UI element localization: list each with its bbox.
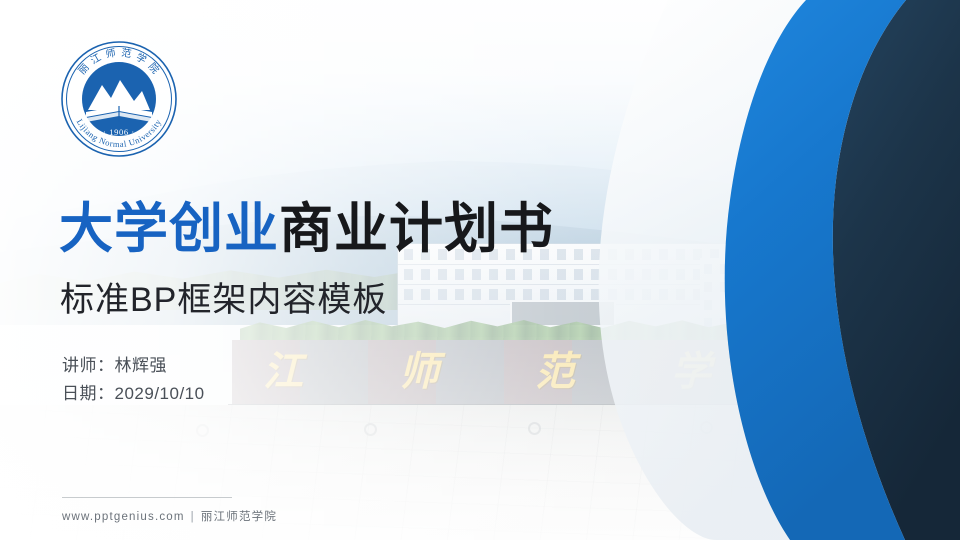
date-label: 日期：	[62, 384, 115, 403]
university-logo: · 1906 · 丽 江 师 范 学 院 Lijiang Normal Univ…	[58, 38, 180, 160]
date-value: 2029/10/10	[115, 384, 205, 403]
presenter-label: 讲师：	[62, 356, 115, 375]
date-row: 日期：2029/10/10	[62, 380, 205, 408]
title-highlight: 大学创业	[59, 199, 279, 259]
presenter-row: 讲师：林辉强	[62, 352, 205, 380]
footer-separator: |	[191, 511, 195, 523]
title-rest: 商业计划书	[279, 199, 554, 259]
slide-meta: 讲师：林辉强 日期：2029/10/10	[62, 352, 205, 408]
slide-subtitle: 标准BP框架内容模板	[60, 278, 387, 322]
footer-institution: 丽江师范学院	[201, 511, 277, 523]
slide-footer: www.pptgenius.com|丽江师范学院	[62, 508, 277, 526]
presenter-value: 林辉强	[115, 356, 168, 375]
logo-year: · 1906 ·	[103, 127, 135, 137]
footer-divider	[62, 497, 232, 498]
presentation-slide: 江 师 范 学 院	[0, 0, 960, 540]
footer-site[interactable]: www.pptgenius.com	[62, 511, 185, 523]
slide-title: 大学创业商业计划书	[59, 197, 554, 261]
